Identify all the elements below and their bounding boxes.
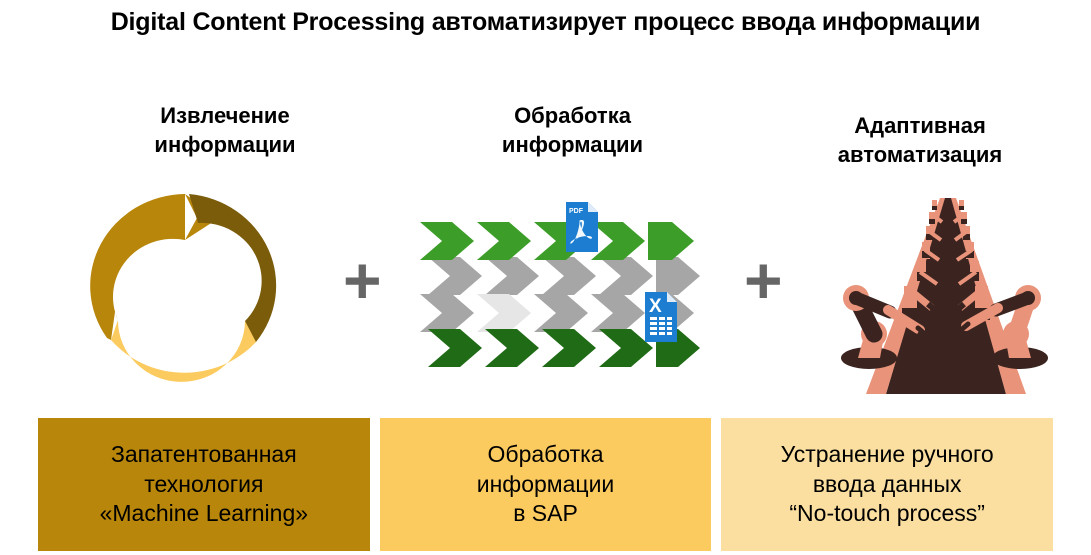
bar-line-3: «Machine Learning» [100,499,308,529]
chevron-process-icon: PDF [410,200,710,370]
chevron-row-top-gray [428,257,700,295]
heading-line-2: информации [410,130,735,159]
robot-assembly-line-svg [828,186,1063,394]
bar-line-1: Запатентованная [111,440,297,470]
summary-bar-no-touch-process: Устранение ручного ввода данных “No-touc… [721,418,1053,551]
bar-line-1: Обработка [488,440,604,470]
bar-line-2: технология [144,470,263,500]
bar-line-2: ввода данных [813,470,962,500]
heading-line-1: Обработка [410,101,735,130]
chevron-row-bottom: X [420,292,700,367]
chevron-row-top: PDF [420,202,700,295]
pdf-icon: PDF [566,202,598,252]
column-heading-processing: Обработка информации [410,101,735,159]
cycle-center-hole [127,240,243,356]
plus-operator-icon: + [744,247,783,313]
svg-text:X: X [649,296,662,317]
heading-line-1: Извлечение [45,101,405,130]
heading-line-2: информации [45,130,405,159]
bar-line-2: информации [477,470,615,500]
summary-bar-patented-technology: Запатентованная технология «Machine Lear… [38,418,370,551]
excel-icon: X [645,292,677,342]
column-heading-extraction: Извлечение информации [45,101,405,159]
robot-assembly-line-image [828,186,1063,394]
heading-line-2: автоматизация [755,140,1085,169]
summary-bar-sap-processing: Обработка информации в SAP [380,418,712,551]
column-heading-automation: Адаптивная автоматизация [755,111,1085,169]
heading-line-1: Адаптивная [755,111,1085,140]
page-title: Digital Content Processing автоматизируе… [0,8,1091,37]
bar-line-3: в SAP [513,499,578,529]
svg-text:PDF: PDF [569,208,584,215]
cycle-donut-svg [85,190,285,382]
bar-line-1: Устранение ручного [781,440,994,470]
chevron-row-top-green [420,222,694,260]
bar-line-3: “No-touch process” [789,499,985,529]
chevron-process-svg: PDF [410,200,710,370]
cycle-donut-icon [85,190,285,382]
plus-operator-icon: + [343,247,382,313]
summary-bars: Запатентованная технология «Machine Lear… [38,418,1053,551]
